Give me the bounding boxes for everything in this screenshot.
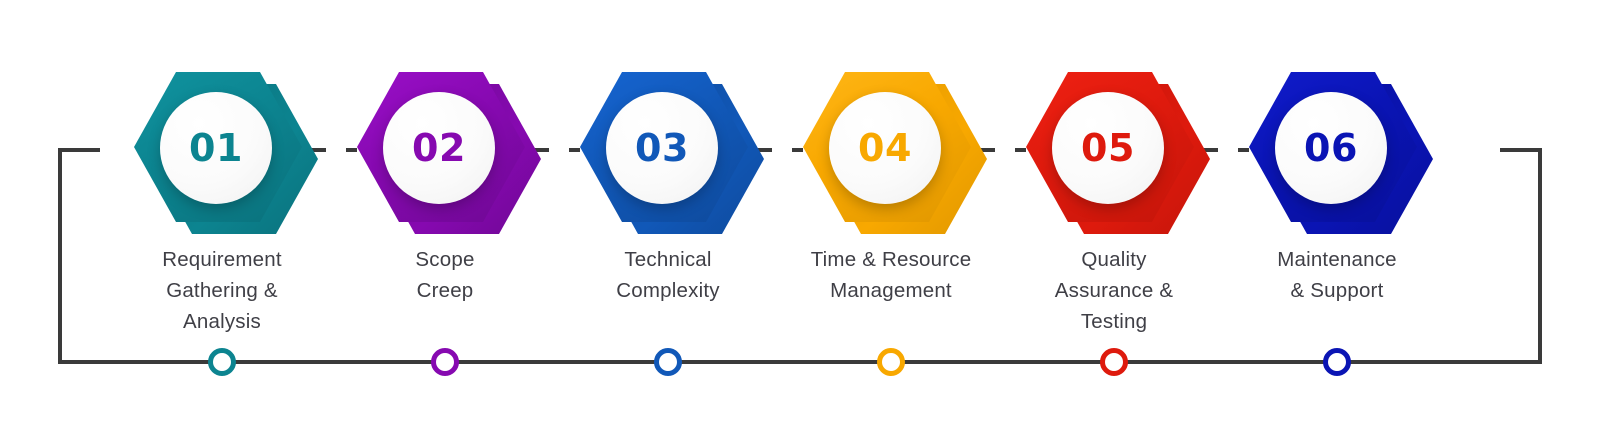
step-number-text: 04 <box>858 129 912 167</box>
step-label: Time & Resource Management <box>771 244 1011 306</box>
step-label: Quality Assurance & Testing <box>994 244 1234 337</box>
left-bracket-vertical <box>58 148 62 364</box>
left-bracket-stub <box>58 148 100 152</box>
process-step-05[interactable]: 05Quality Assurance & Testing <box>994 0 1234 444</box>
process-step-01[interactable]: 01Requirement Gathering & Analysis <box>102 0 342 444</box>
step-number-disc: 05 <box>1052 92 1164 204</box>
step-number-text: 01 <box>189 129 243 167</box>
step-label: Requirement Gathering & Analysis <box>102 244 342 337</box>
step-number-disc: 04 <box>829 92 941 204</box>
hexagon-badge-02: 02 <box>357 62 533 238</box>
process-step-04[interactable]: 04Time & Resource Management <box>771 0 1011 444</box>
step-label: Maintenance & Support <box>1217 244 1457 306</box>
process-step-06[interactable]: 06Maintenance & Support <box>1217 0 1457 444</box>
timeline-marker-03[interactable] <box>654 348 682 376</box>
hexagon-badge-03: 03 <box>580 62 756 238</box>
step-number-text: 06 <box>1304 129 1358 167</box>
step-number-text: 03 <box>635 129 689 167</box>
step-number-text: 05 <box>1081 129 1135 167</box>
step-number-text: 02 <box>412 129 466 167</box>
timeline-marker-05[interactable] <box>1100 348 1128 376</box>
step-number-disc: 06 <box>1275 92 1387 204</box>
timeline-marker-01[interactable] <box>208 348 236 376</box>
right-bracket-stub <box>1500 148 1542 152</box>
hexagon-badge-01: 01 <box>134 62 310 238</box>
hexagon-badge-06: 06 <box>1249 62 1425 238</box>
infographic-canvas: 01Requirement Gathering & Analysis02Scop… <box>0 0 1600 444</box>
step-number-disc: 02 <box>383 92 495 204</box>
hexagon-badge-05: 05 <box>1026 62 1202 238</box>
step-number-disc: 03 <box>606 92 718 204</box>
right-bracket-vertical <box>1538 148 1542 364</box>
step-number-disc: 01 <box>160 92 272 204</box>
timeline-marker-06[interactable] <box>1323 348 1351 376</box>
timeline-marker-04[interactable] <box>877 348 905 376</box>
hexagon-badge-04: 04 <box>803 62 979 238</box>
step-label: Scope Creep <box>325 244 565 306</box>
step-label: Technical Complexity <box>548 244 788 306</box>
timeline-marker-02[interactable] <box>431 348 459 376</box>
process-step-03[interactable]: 03Technical Complexity <box>548 0 788 444</box>
process-step-02[interactable]: 02Scope Creep <box>325 0 565 444</box>
